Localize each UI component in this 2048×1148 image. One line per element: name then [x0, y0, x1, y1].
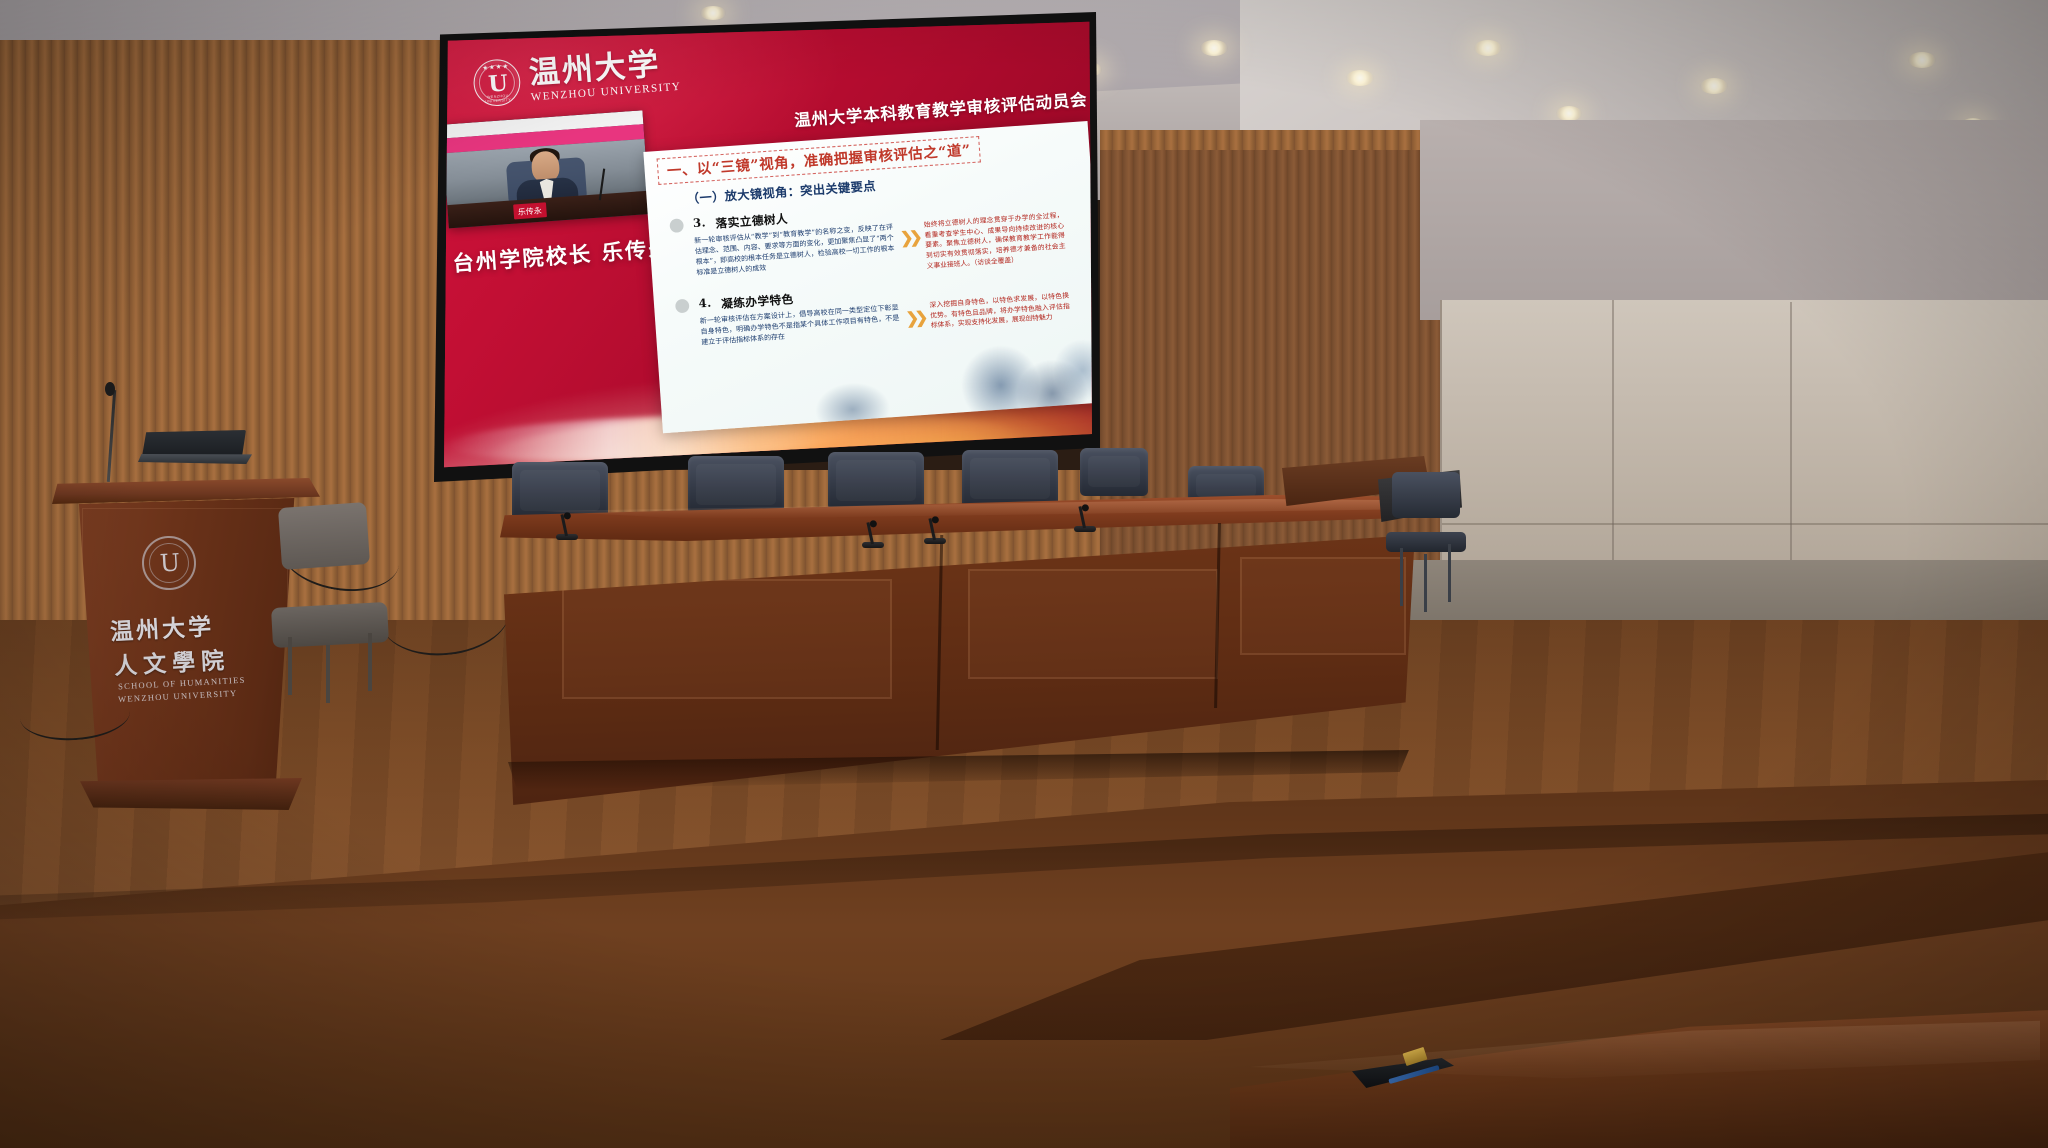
- laptop-screen: [142, 430, 246, 458]
- table-microphone[interactable]: [924, 518, 946, 544]
- chair-seat: [1386, 532, 1466, 552]
- table-microphone[interactable]: [556, 514, 578, 540]
- ink-wash-decoration-2: [798, 345, 930, 428]
- bullet-dot-icon: [669, 219, 684, 234]
- table-panel-inset: [562, 579, 892, 699]
- downlight: [700, 6, 726, 20]
- microphone-icon: [1081, 504, 1089, 512]
- slide-canvas: ★★★★ U WENZHOU UNIVERSITY 温州大学 WENZHOU U…: [444, 20, 1092, 470]
- lectern-subtitle-line1: SCHOOL OF HUMANITIES: [118, 675, 246, 692]
- side-chair-leg: [326, 645, 330, 703]
- lectern-title-line2: 人文學院: [113, 641, 231, 681]
- lectern-base: [80, 778, 302, 810]
- university-logo: ★★★★ U WENZHOU UNIVERSITY 温州大学 WENZHOU U…: [472, 46, 682, 107]
- slide-content-card: 一、以“三镜”视角，准确把握审核评估之“道” （一）放大镜视角：突出关键要点 3…: [643, 121, 1092, 433]
- pip-video[interactable]: 乐传永: [444, 110, 650, 228]
- point-4-title: 凝练办学特色: [721, 291, 795, 313]
- lectern-seal-icon: U: [141, 535, 198, 592]
- pip-nameplate: 乐传永: [513, 202, 546, 219]
- point-3-number: 3.: [693, 216, 707, 231]
- scene-root: ★★★★ U WENZHOU UNIVERSITY 温州大学 WENZHOU U…: [0, 0, 2048, 1148]
- side-chair-leg: [368, 633, 372, 691]
- speaker-caption: 台州学院校长 乐传永: [451, 231, 672, 277]
- chair-leg: [1400, 548, 1403, 606]
- point-4-right-text: 深入挖掘自身特色，以特色求发展，以特色换优势。有特色且品牌，将办学特色融入评估指…: [929, 291, 1071, 331]
- chair-leg: [1424, 554, 1427, 612]
- downlight: [1346, 70, 1374, 86]
- side-chair-back: [278, 502, 370, 570]
- point-4-number: 4.: [698, 296, 712, 311]
- chair-back: [1080, 448, 1148, 496]
- side-chair[interactable]: [272, 505, 390, 685]
- bullet-dot-icon: [675, 299, 690, 314]
- microphone-icon: [563, 512, 571, 520]
- downlight: [1556, 106, 1582, 121]
- downlight: [1700, 78, 1728, 94]
- side-chair-right[interactable]: [1386, 472, 1466, 614]
- laptop-keyboard: [138, 454, 252, 464]
- microphone-icon: [931, 516, 939, 524]
- microphone-icon: [869, 520, 877, 528]
- point-3-right-text: 始终将立德树人的理念贯穿于办学的全过程，看重考查学生中心、成果导向持续改进的核心…: [924, 211, 1067, 272]
- led-screen[interactable]: ★★★★ U WENZHOU UNIVERSITY 温州大学 WENZHOU U…: [444, 20, 1092, 470]
- table-microphone[interactable]: [1074, 506, 1096, 532]
- downlight: [1908, 52, 1936, 68]
- lectern-seal-monogram: U: [159, 551, 178, 576]
- laptop[interactable]: [142, 430, 250, 470]
- chevron-right-icon: ❯❯: [900, 230, 919, 247]
- point-3-title: 落实立德树人: [715, 210, 789, 232]
- mic-neck: [560, 514, 567, 536]
- downlight: [1200, 40, 1228, 56]
- wall-upper-grey: [1420, 120, 2048, 320]
- seal-ring-text: WENZHOU UNIVERSITY: [476, 93, 521, 105]
- mic-neck: [1078, 506, 1085, 528]
- seal-monogram: U: [487, 71, 506, 94]
- chevron-right-icon: ❯❯: [905, 310, 924, 327]
- microphone-icon: [105, 382, 115, 396]
- chair-back: [1392, 472, 1460, 518]
- mic-neck: [928, 518, 935, 540]
- downlight: [1474, 40, 1502, 56]
- table-panel-inset: [1240, 557, 1406, 655]
- table-panel-inset: [968, 569, 1218, 679]
- lectern-title-line1: 温州大学: [109, 607, 215, 646]
- university-seal-icon: ★★★★ U WENZHOU UNIVERSITY: [472, 58, 522, 108]
- chair-leg: [1448, 544, 1451, 602]
- conference-table: [500, 495, 1430, 805]
- lectern-body: U 温州大学 人文學院 SCHOOL OF HUMANITIES WENZHOU…: [62, 498, 304, 798]
- lectern-subtitle-line2: WENZHOU UNIVERSITY: [118, 688, 238, 704]
- side-chair-leg: [288, 637, 292, 695]
- mic-neck: [866, 522, 873, 544]
- table-microphone[interactable]: [862, 522, 884, 548]
- seal-stars: ★★★★: [473, 62, 518, 73]
